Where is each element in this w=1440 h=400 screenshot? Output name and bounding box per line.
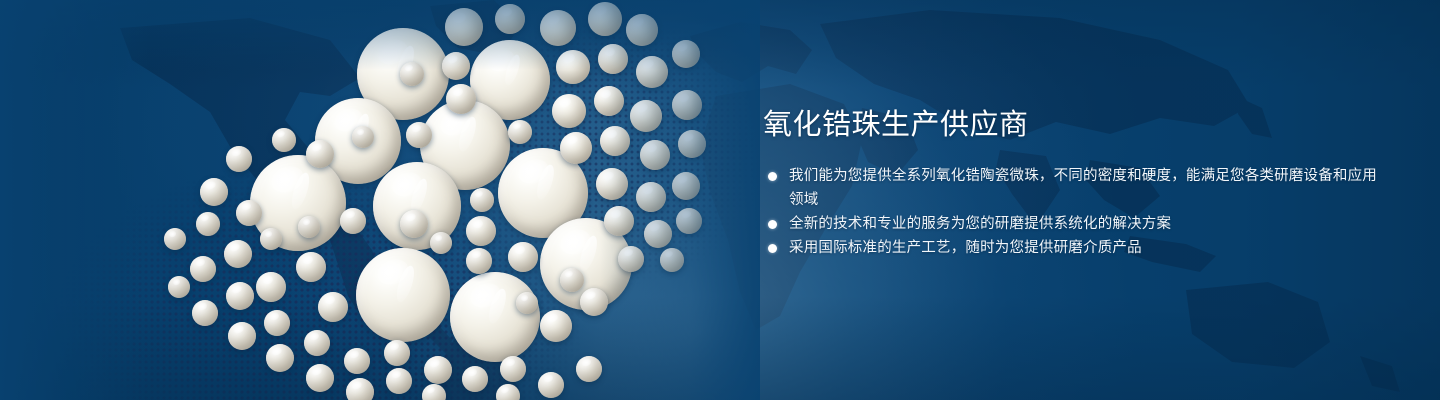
list-item: 我们能为您提供全系列氧化锆陶瓷微珠，不同的密度和硬度，能满足您各类研磨设备和应用… [763, 164, 1383, 212]
list-item: 采用国际标准的生产工艺，随时为您提供研磨介质产品 [763, 236, 1383, 260]
list-item: 全新的技术和专业的服务为您的研磨提供系统化的解决方案 [763, 212, 1383, 236]
bullet-dot-icon [768, 244, 777, 253]
bullet-dot-icon [768, 172, 777, 181]
page-title: 氧化锆珠生产供应商 [763, 106, 1383, 144]
list-item-text: 采用国际标准的生产工艺，随时为您提供研磨介质产品 [789, 236, 1383, 260]
list-item-text: 全新的技术和专业的服务为您的研磨提供系统化的解决方案 [789, 212, 1383, 236]
hero-banner: 氧化锆珠生产供应商 我们能为您提供全系列氧化锆陶瓷微珠，不同的密度和硬度，能满足… [0, 0, 1440, 400]
banner-content: 氧化锆珠生产供应商 我们能为您提供全系列氧化锆陶瓷微珠，不同的密度和硬度，能满足… [763, 106, 1383, 260]
bullet-dot-icon [768, 220, 777, 229]
list-item-text: 我们能为您提供全系列氧化锆陶瓷微珠，不同的密度和硬度，能满足您各类研磨设备和应用… [789, 164, 1383, 212]
feature-list: 我们能为您提供全系列氧化锆陶瓷微珠，不同的密度和硬度，能满足您各类研磨设备和应用… [763, 164, 1383, 260]
zirconia-beads-photo [0, 0, 760, 400]
